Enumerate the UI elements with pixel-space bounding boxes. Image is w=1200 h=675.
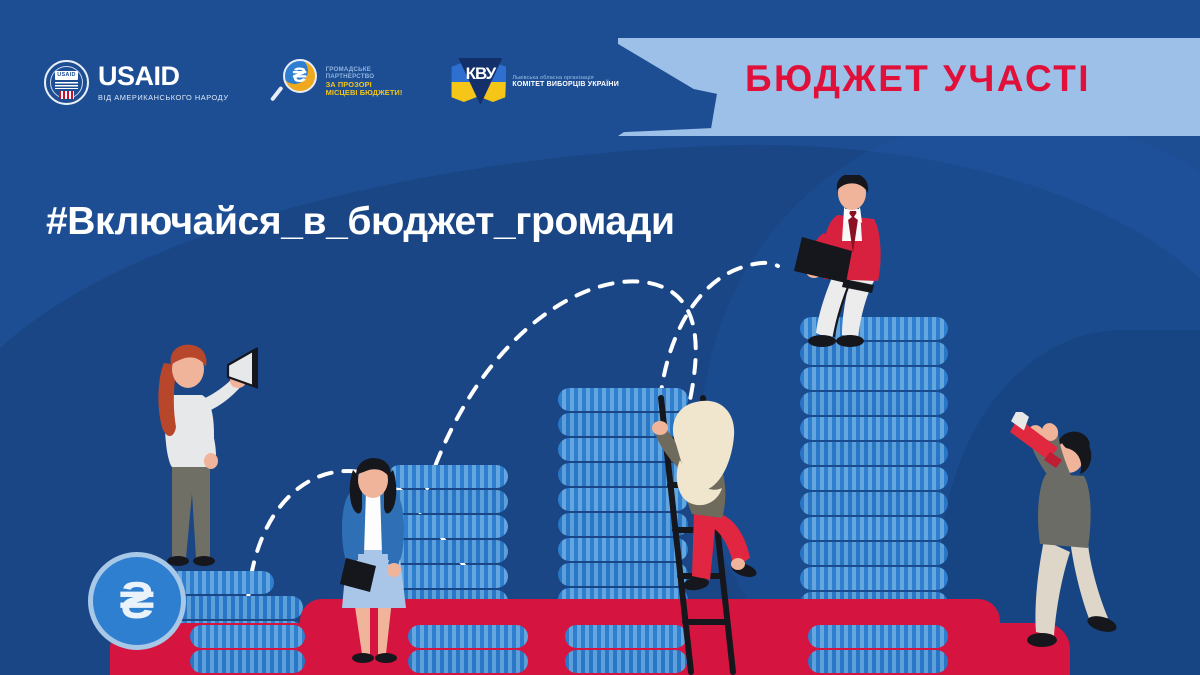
- hryvnia-symbol: ₴: [283, 59, 317, 93]
- coin: [800, 392, 948, 415]
- coin: [190, 625, 305, 648]
- coin-stack-4-front: [808, 625, 948, 675]
- coin: [800, 517, 948, 540]
- kvu-letters: КВУ: [458, 64, 502, 84]
- usaid-seal-flag: [59, 91, 74, 99]
- kvu-emblem-icon: КВУ: [450, 58, 508, 106]
- coin: [808, 650, 948, 673]
- usaid-logo: USAID USAID ВІД АМЕРИКАНСЬКОГО НАРОДУ: [44, 60, 229, 105]
- person-woman-tablet: [318, 458, 428, 673]
- person-woman-ladder: [640, 398, 770, 623]
- coin-stack-1-front: [190, 625, 305, 675]
- person-man-laptop: [786, 175, 916, 360]
- person-woman-megaphone: [130, 343, 260, 583]
- magnifier-hryvnia-icon: ₴: [277, 59, 321, 105]
- usaid-seal-label: USAID: [55, 71, 78, 80]
- magnifier-handle: [270, 86, 284, 102]
- usaid-tagline: ВІД АМЕРИКАНСЬКОГО НАРОДУ: [98, 93, 229, 102]
- poster-canvas: БЮДЖЕТ УЧАСТІ USAID USAID ВІД АМЕРИКАНСЬ…: [0, 0, 1200, 675]
- coin: [800, 542, 948, 565]
- banner-title: БЮДЖЕТ УЧАСТІ: [745, 58, 1165, 100]
- gp-line-4: МІСЦЕВІ БЮДЖЕТИ!: [326, 89, 403, 97]
- usaid-wordmark: USAID: [98, 63, 229, 90]
- coin: [800, 442, 948, 465]
- coin: [190, 650, 305, 673]
- usaid-seal-bars: [55, 82, 78, 89]
- logo-row: USAID USAID ВІД АМЕРИКАНСЬКОГО НАРОДУ ₴ …: [44, 55, 619, 109]
- coin: [800, 367, 948, 390]
- coin: [800, 492, 948, 515]
- hashtag-headline: #Включайся_в_бюджет_громади: [46, 200, 675, 244]
- coin: [800, 417, 948, 440]
- coin: [800, 567, 948, 590]
- usaid-seal-icon: USAID: [44, 60, 89, 105]
- public-partnership-logo: ₴ ГРОМАДСЬКЕ ПАРТНЕРСТВО ЗА ПРОЗОРІ МІСЦ…: [277, 59, 403, 105]
- coin: [800, 467, 948, 490]
- coin: [175, 596, 303, 619]
- person-man-megaphone: [1000, 412, 1140, 664]
- coin: [808, 625, 948, 648]
- kvu-line-2: КОМІТЕТ ВИБОРЦІВ УКРАЇНИ: [512, 81, 619, 89]
- kvu-logo: КВУ Львівська обласна організація КОМІТЕ…: [450, 58, 619, 106]
